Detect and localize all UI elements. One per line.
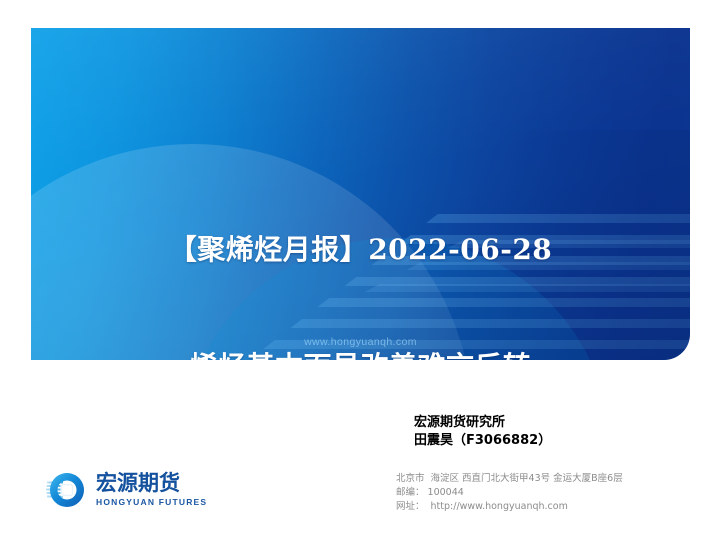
company-logo-text: 宏源期货 HONGYUAN FUTURES <box>96 472 207 508</box>
department-name: 宏源期货研究所 <box>414 414 551 432</box>
contact-block: 北京市 海淀区 西直门北大街甲43号 金运大厦B座6层 邮编： 100044 网… <box>396 472 623 514</box>
company-name-en: HONGYUAN FUTURES <box>96 497 207 508</box>
contact-website: 网址： http://www.hongyuanqh.com <box>396 500 623 514</box>
slide-title-line-2: 烯烃基本面虽改善难言反转 <box>31 347 690 360</box>
contact-postcode: 邮编： 100044 <box>396 486 623 500</box>
watermark-url: www.hongyuanqh.com <box>31 336 690 348</box>
hongyuan-disc-icon <box>46 469 88 511</box>
company-logo: 宏源期货 HONGYUAN FUTURES <box>46 466 261 514</box>
slide-title-line-1: 【聚烯烃月报】2022-06-28 <box>31 230 690 269</box>
analyst-name-and-license: 田震昊（F3066882） <box>414 432 551 450</box>
title-banner: 【聚烯烃月报】2022-06-28 烯烃基本面虽改善难言反转 www.hongy… <box>31 28 690 360</box>
slide-title: 【聚烯烃月报】2022-06-28 烯烃基本面虽改善难言反转 <box>31 152 690 360</box>
department-block: 宏源期货研究所 田震昊（F3066882） <box>414 414 551 450</box>
slide-footer: 宏源期货 HONGYUAN FUTURES 宏源期货研究所 田震昊（F30668… <box>0 400 720 540</box>
contact-address: 北京市 海淀区 西直门北大街甲43号 金运大厦B座6层 <box>396 472 623 486</box>
company-name-cn: 宏源期货 <box>96 472 207 495</box>
